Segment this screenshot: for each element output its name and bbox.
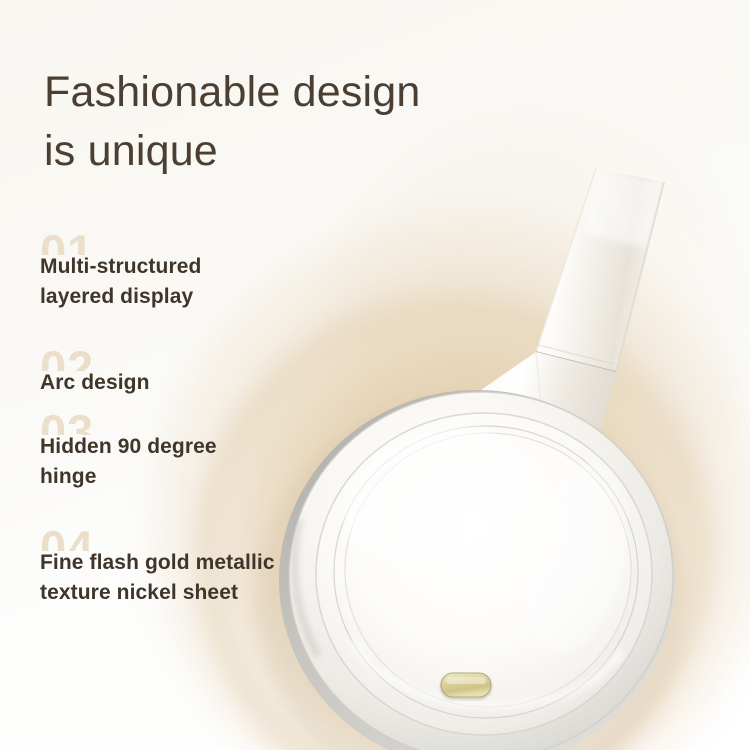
- feature-text-3: Hidden 90 degree hinge: [40, 432, 340, 492]
- page-title: Fashionable design is unique: [44, 63, 604, 182]
- feature-item-3: 03 Hidden 90 degree hinge: [0, 408, 340, 524]
- headband: [536, 168, 664, 372]
- feature-text-4: Fine flash gold metallic texture nickel …: [40, 548, 340, 608]
- gold-metallic-badge: [440, 673, 492, 700]
- feature-number-01: 01: [40, 228, 94, 255]
- feature-item-1: 01 Multi-structured layered display: [0, 228, 340, 344]
- product-poster: Fashionable design is unique 01 Multi-st…: [0, 0, 750, 750]
- feature-1-line-1: Multi-structured: [40, 252, 340, 282]
- headline-line-1: Fashionable design: [44, 63, 604, 122]
- feature-item-2: 02 Arc design: [0, 344, 340, 408]
- feature-1-line-2: layered display: [40, 282, 340, 312]
- feature-2-line-1: Arc design: [40, 368, 340, 398]
- feature-item-4: 04 Fine flash gold metallic texture nick…: [0, 524, 340, 644]
- feature-number-02: 02: [40, 344, 94, 371]
- feature-number-03: 03: [40, 408, 94, 435]
- feature-text-1: Multi-structured layered display: [40, 252, 340, 312]
- feature-3-line-1: Hidden 90 degree: [40, 432, 340, 462]
- feature-list: 01 Multi-structured layered display 02 A…: [0, 228, 340, 644]
- feature-4-line-2: texture nickel sheet: [40, 578, 340, 608]
- feature-text-2: Arc design: [40, 368, 340, 398]
- feature-4-line-1: Fine flash gold metallic: [40, 548, 340, 578]
- feature-number-04: 04: [40, 524, 94, 551]
- headline-line-2: is unique: [44, 122, 604, 181]
- feature-3-line-2: hinge: [40, 462, 340, 492]
